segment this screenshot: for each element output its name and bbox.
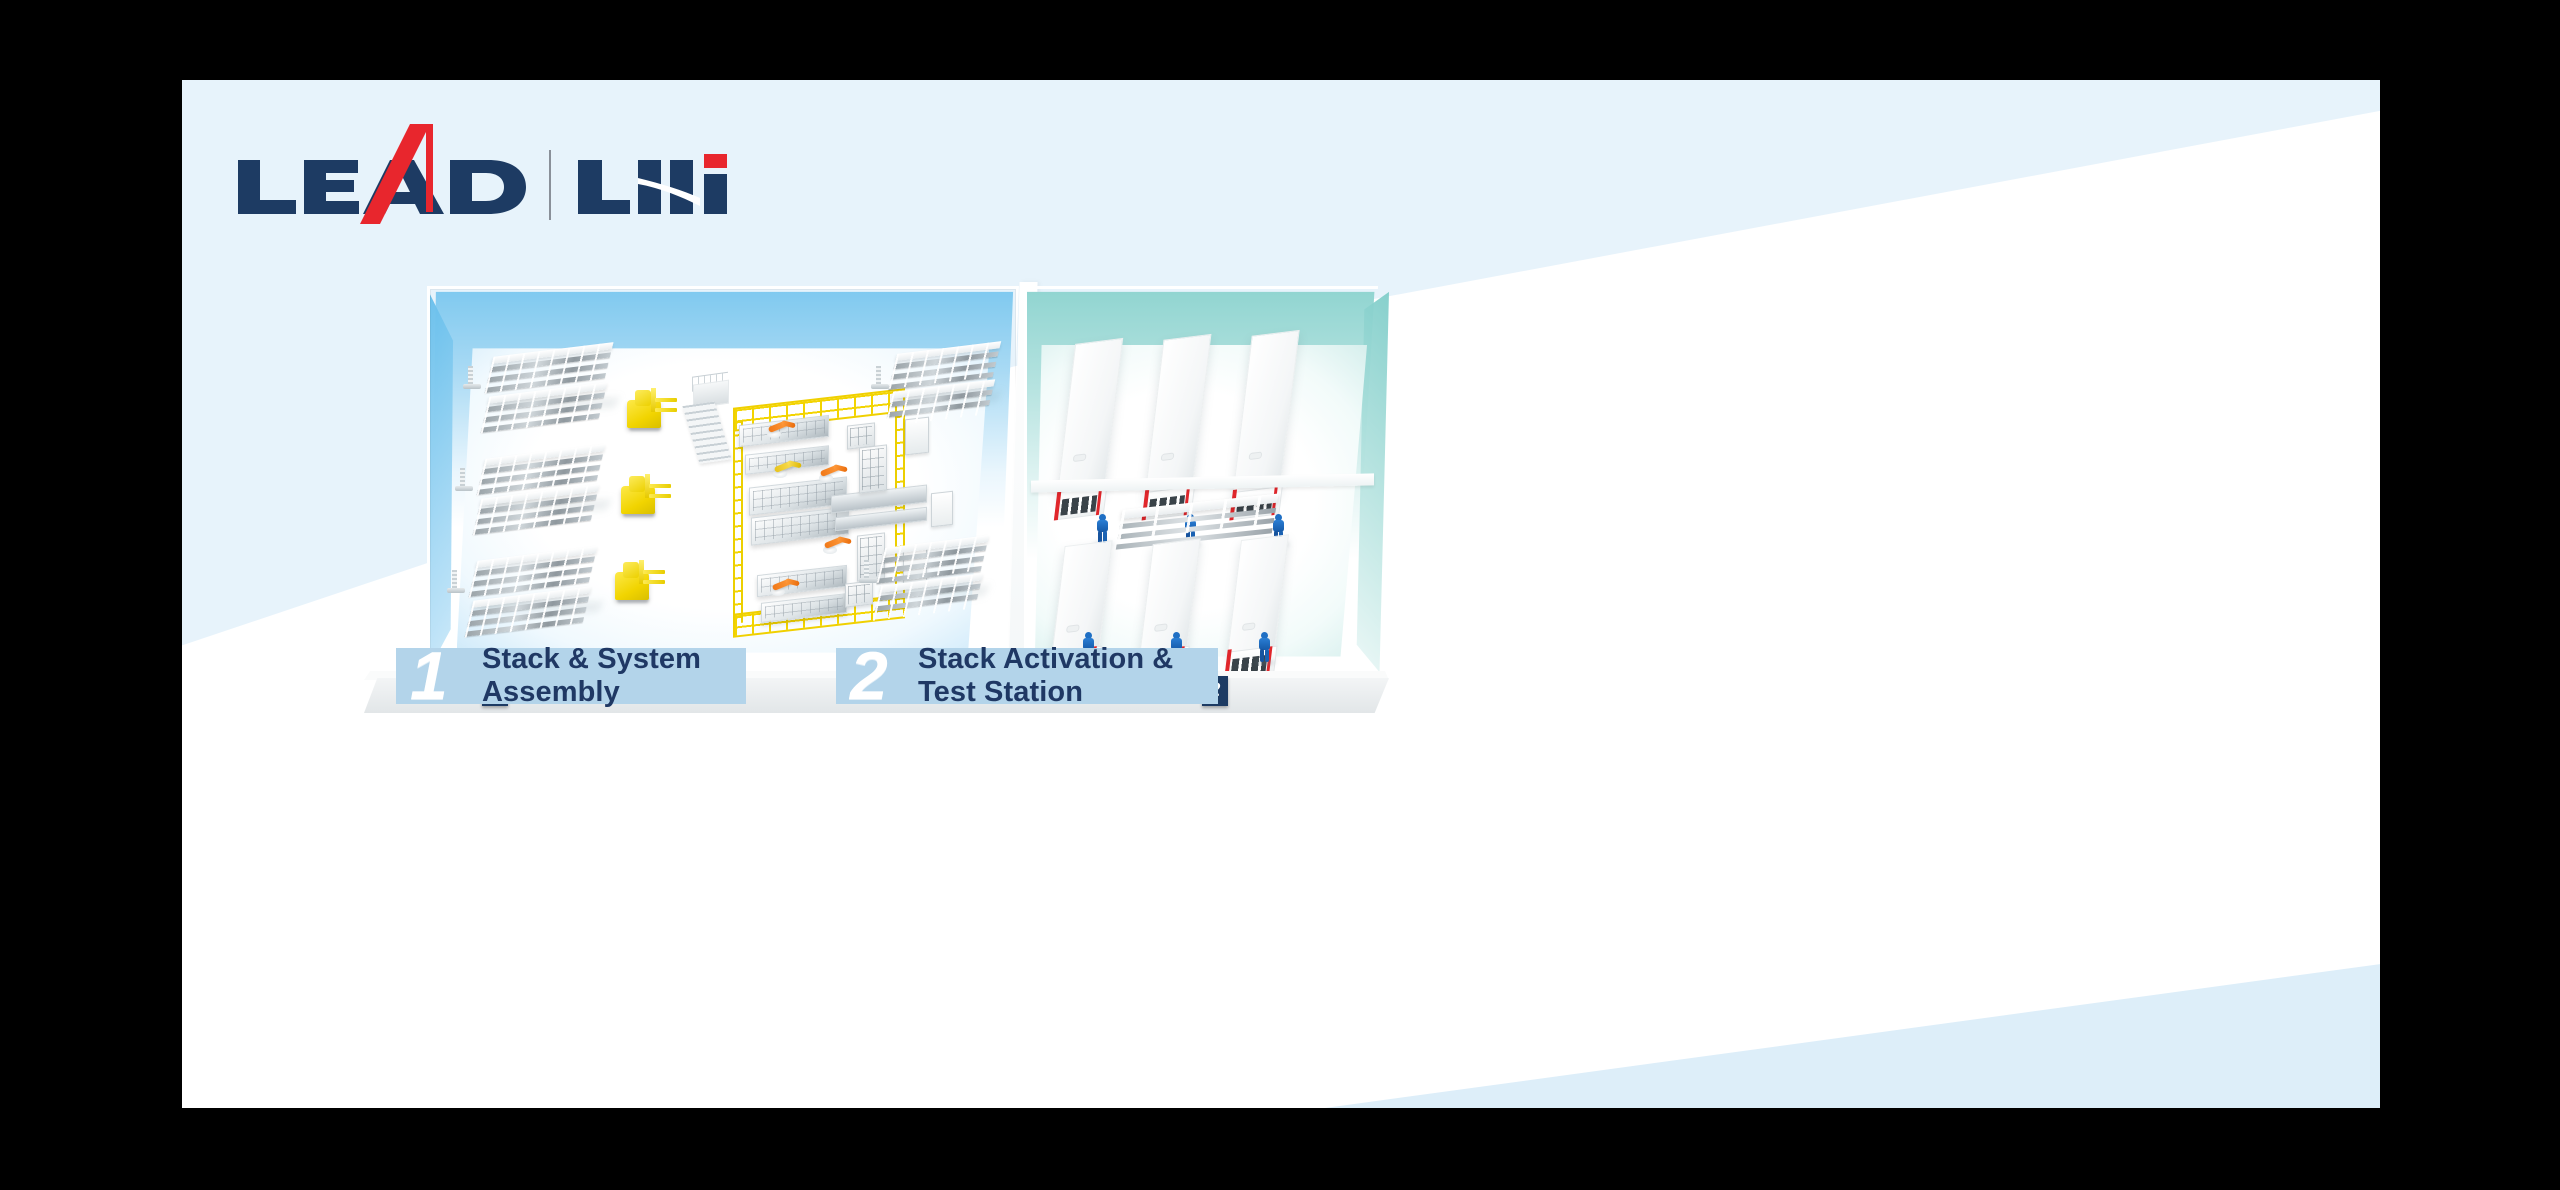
factory-layout-diagram: 1 2 [272,190,1302,630]
caption-zone-2[interactable]: 2 Stack Activation & Test Station [836,648,1218,704]
zone-2-rim [1024,286,1389,676]
caption-2-label: Stack Activation & Test Station [918,643,1218,709]
zone-2-room[interactable] [1024,286,1389,676]
caption-zone-1[interactable]: 1 Stack & System Assembly [396,648,746,704]
zone-1-rim [427,286,1019,676]
caption-1-label: Stack & System Assembly [482,643,746,709]
zone-1-room[interactable] [427,286,1019,676]
slide-canvas: 1 2 1 Stack & System Assembly 2 Stack Ac… [182,80,2380,1108]
caption-2-number: 2 [850,642,885,710]
caption-1-number: 1 [410,642,445,710]
